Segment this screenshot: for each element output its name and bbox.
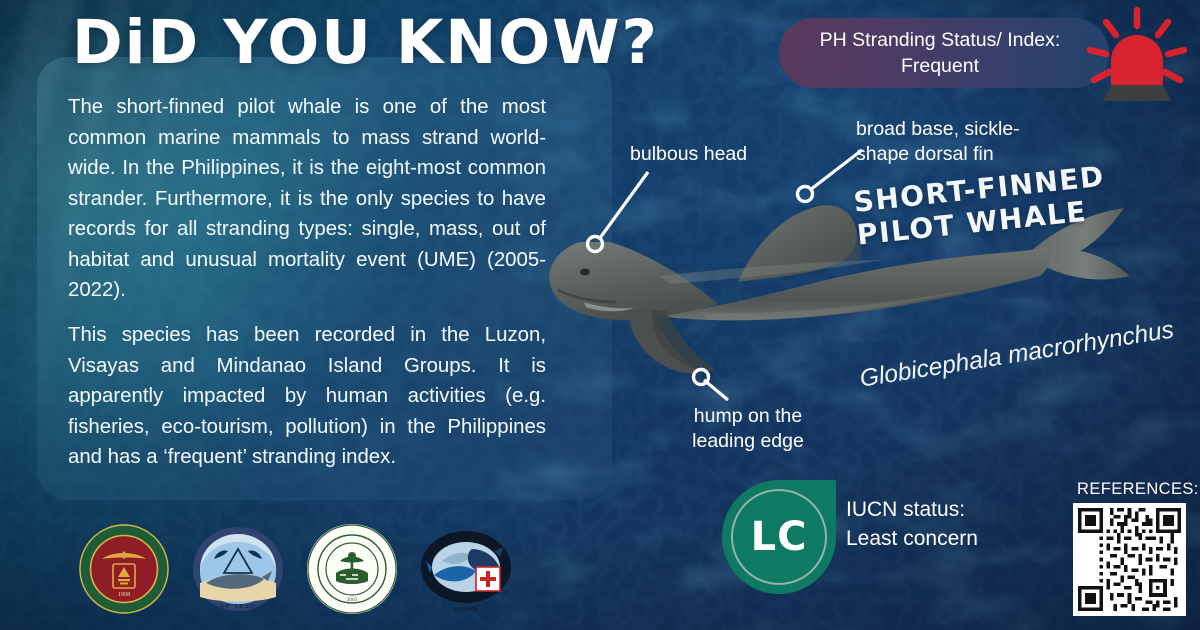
up-seal-year: 1908 (118, 591, 130, 598)
page-title: DiD YOU KNOW? (72, 12, 659, 73)
paragraph-one: The short-finned pilot whale is one of t… (68, 92, 546, 306)
qr-code[interactable] (1073, 503, 1186, 616)
iucn-status-text: IUCN status: Least concern (846, 495, 978, 553)
logo-mmrcl: UP TBSH (192, 523, 284, 615)
pmmsn-est-text: est 2005 (454, 607, 478, 613)
logo-pmmsn: est 2005 (420, 523, 512, 615)
infographic-canvas: DiD YOU KNOW? The short-finned pilot wha… (0, 0, 1200, 630)
mmrcl-bottom-text: UP TBSH (220, 604, 256, 610)
stranding-status-badge: PH Stranding Status/ Index: Frequent (779, 18, 1109, 88)
callout-dorsal-fin: broad base, sickle- shape dorsal fin (856, 117, 1020, 167)
partner-logos: 1908 UP TBSH (78, 518, 578, 620)
logo-up-seal: 1908 (78, 523, 170, 615)
paragraph-two: This species has been recorded in the Lu… (68, 320, 546, 473)
callout-dorsal-fin-line2: shape dorsal fin (856, 143, 994, 165)
callout-hump-line2: leading edge (692, 430, 804, 452)
references-label: REFERENCES: (1077, 480, 1199, 499)
iucn-status-badge: LC (722, 480, 836, 594)
stranding-status-value: Frequent (901, 55, 979, 77)
iucn-badge-ring: LC (731, 489, 827, 585)
callout-hump-line1: hump on the (694, 405, 802, 427)
callout-hump-leading-edge: hump on the leading edge (678, 404, 818, 454)
iucn-label: IUCN status: (846, 498, 965, 521)
stranding-status-label: PH Stranding Status/ Index: (820, 29, 1061, 51)
iesm-year: 2003 (347, 597, 358, 603)
siren-icon (1078, 6, 1196, 106)
callout-bulbous-head: bulbous head (630, 142, 747, 167)
iucn-status-code: LC (751, 514, 808, 560)
stranding-status-text: PH Stranding Status/ Index: Frequent (806, 27, 1083, 79)
iucn-value: Least concern (846, 527, 978, 550)
logo-iesm: 2003 (306, 523, 398, 615)
callout-dorsal-fin-line1: broad base, sickle- (856, 118, 1020, 140)
iucn-badge-shape: LC (722, 480, 836, 594)
